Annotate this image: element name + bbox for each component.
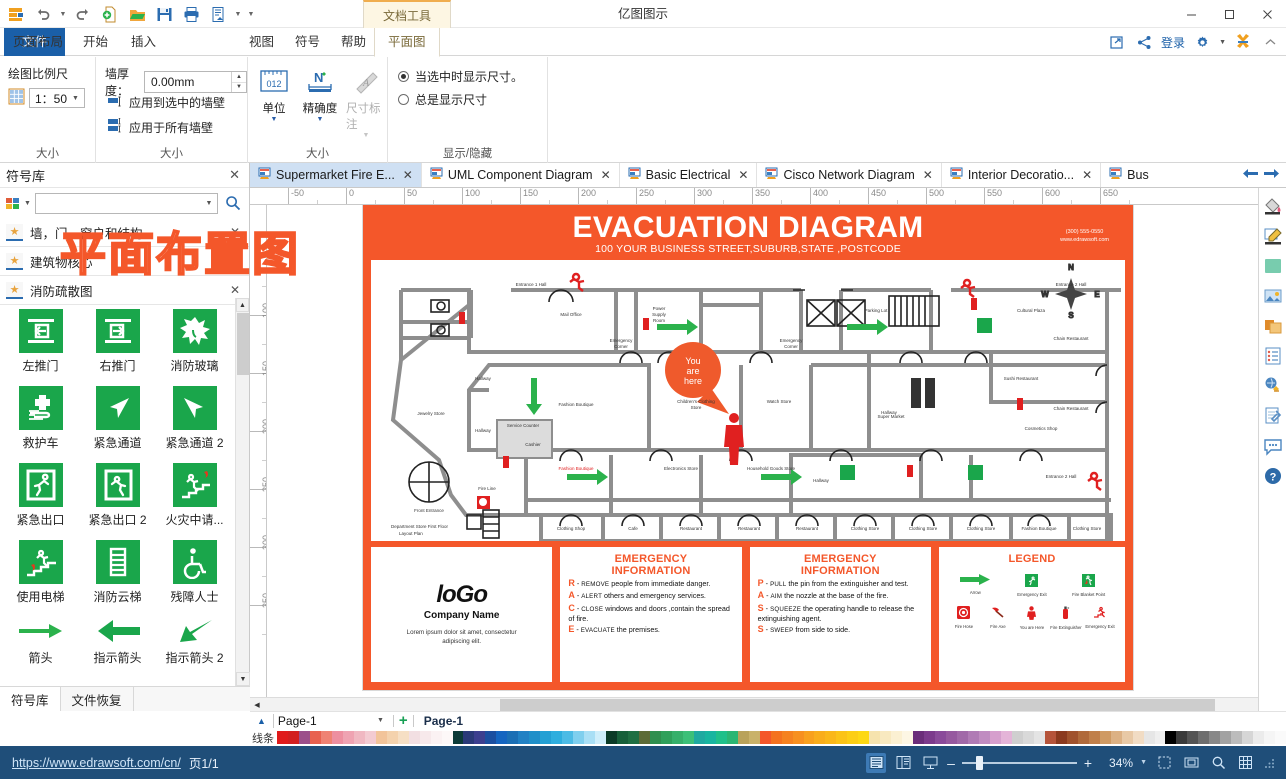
palette-swatch[interactable] xyxy=(496,731,507,744)
line-letter: A xyxy=(758,590,765,600)
company-name: Company Name xyxy=(424,610,500,621)
palette-swatch[interactable] xyxy=(431,731,442,744)
palette-swatch[interactable] xyxy=(1122,731,1133,744)
drawing-canvas[interactable]: EVACUATION DIAGRAM 100 YOUR BUSINESS STR… xyxy=(267,205,1272,697)
palette-swatch[interactable] xyxy=(836,731,847,744)
palette-swatch[interactable] xyxy=(1264,731,1275,744)
stepper-up-icon[interactable]: ▲ xyxy=(232,72,246,83)
dimension-annotation-button[interactable]: A 尺寸标注 ▼ xyxy=(346,67,386,140)
line-letter: S xyxy=(758,624,764,634)
document-tool-context-tab[interactable]: 文档工具 xyxy=(363,0,451,28)
palette-swatch[interactable] xyxy=(858,731,869,744)
palette-swatch[interactable] xyxy=(1045,731,1056,744)
library-category-building-core[interactable]: ★ 建筑物核心 ✕ xyxy=(0,247,249,276)
palette-swatch[interactable] xyxy=(902,731,913,744)
palette-swatch[interactable] xyxy=(1078,731,1089,744)
shape-label: 紧急通道 2 xyxy=(165,434,223,451)
share-box-icon[interactable] xyxy=(1107,32,1127,52)
shape-push-door-right[interactable]: 右推门 xyxy=(79,306,156,377)
fit-page-icon[interactable] xyxy=(1154,753,1174,773)
palette-swatch[interactable] xyxy=(924,731,935,744)
palette-swatch[interactable] xyxy=(485,731,496,744)
tab-view[interactable]: 视图 xyxy=(236,28,287,56)
chevron-down-icon[interactable]: ▼ xyxy=(24,200,31,207)
line-letter: P xyxy=(758,578,764,588)
palette-swatch[interactable] xyxy=(672,731,683,744)
palette-swatch[interactable] xyxy=(1111,731,1122,744)
save-disk-icon[interactable] xyxy=(152,2,176,26)
palette-swatch[interactable] xyxy=(913,731,924,744)
close-icon[interactable]: ✕ xyxy=(227,225,243,239)
chevron-down-icon[interactable]: ▼ xyxy=(377,717,388,724)
hyperlink-icon[interactable] xyxy=(1261,374,1285,398)
tab-symbol-library[interactable]: 符号库 xyxy=(0,687,61,711)
svg-text:Fashion Boutique: Fashion Boutique xyxy=(558,402,594,407)
palette-swatch[interactable] xyxy=(990,731,1001,744)
palette-swatch[interactable] xyxy=(1165,731,1176,744)
page-canvas[interactable]: EVACUATION DIAGRAM 100 YOUR BUSINESS STR… xyxy=(363,205,1133,690)
tab-symbol[interactable]: 符号 xyxy=(282,28,333,56)
horizontal-ruler[interactable]: -50 0 50 100 150 200 250 300 350 400 450… xyxy=(250,188,1272,205)
use-elevator-icon xyxy=(19,540,63,584)
doc-tab-basic-electrical[interactable]: Basic Electrical ✕ xyxy=(620,163,758,187)
shape-arrow-right[interactable]: 箭头 xyxy=(2,614,79,669)
color-palette: 线条 xyxy=(250,729,1286,746)
svg-text:Clothing Store: Clothing Store xyxy=(1073,526,1102,531)
login-button[interactable]: 登录 xyxy=(1161,34,1185,51)
svg-text:Mail Office: Mail Office xyxy=(560,312,582,317)
vertical-ruler[interactable]: 100 150 200 250 300 350 xyxy=(250,205,267,697)
shape-use-elevator[interactable]: 使用电梯 xyxy=(2,537,79,608)
unit-chevron-down-icon[interactable]: ▼ xyxy=(271,116,278,124)
grid-scale-icon[interactable] xyxy=(8,88,25,108)
customize-qat-icon[interactable]: ▼ xyxy=(246,2,256,26)
palette-swatch[interactable] xyxy=(760,731,771,744)
first-aid-icon xyxy=(19,386,63,430)
tab-insert[interactable]: 插入 xyxy=(118,28,169,56)
line-rest: the premises. xyxy=(615,625,660,634)
nav-next-icon[interactable] xyxy=(1263,168,1280,182)
shape-emergency-exit-2[interactable]: 紧急出口 2 xyxy=(79,460,156,531)
legend-item: Arrow xyxy=(958,574,992,597)
document-icon xyxy=(258,167,271,183)
wall-thickness-stepper[interactable]: 0.00mm ▲▼ xyxy=(144,71,247,93)
collapse-ribbon-icon[interactable] xyxy=(1260,32,1280,52)
window-controls xyxy=(1172,0,1286,28)
shape-wheelchair[interactable]: 残障人士 xyxy=(156,537,233,608)
unit-button[interactable]: 012 单位 ▼ xyxy=(254,67,294,140)
line-caps: EVACUATE xyxy=(581,627,615,634)
close-icon[interactable]: ✕ xyxy=(226,167,243,183)
palette-swatch[interactable] xyxy=(1023,731,1034,744)
svg-text:Household Goods Store: Household Goods Store xyxy=(747,466,796,471)
apply-to-selected-wall-button[interactable]: 应用到选中的墙壁 xyxy=(105,93,228,112)
palette-swatch[interactable] xyxy=(1144,731,1155,744)
presentation-view-icon[interactable] xyxy=(920,753,940,773)
doc-tab-bus[interactable]: Bus xyxy=(1101,163,1157,187)
palette-swatch[interactable] xyxy=(639,731,650,744)
edraw-logo-icon[interactable] xyxy=(4,2,28,26)
palette-swatches[interactable] xyxy=(277,731,1286,744)
fill-color-icon[interactable] xyxy=(1261,194,1285,218)
tab-start[interactable]: 开始 xyxy=(70,28,121,56)
palette-swatch[interactable] xyxy=(1056,731,1067,744)
settings-chevron-down-icon[interactable]: ▼ xyxy=(1219,39,1226,46)
apply-selected-wall-icon xyxy=(108,95,123,111)
close-icon[interactable]: ✕ xyxy=(403,168,413,182)
share-icon[interactable] xyxy=(1134,32,1154,52)
svg-text:are: are xyxy=(686,366,699,376)
attachment-icon[interactable] xyxy=(1261,404,1285,428)
panel-line: R - REMOVE people from immediate danger. xyxy=(568,579,733,589)
svg-text:Cafe: Cafe xyxy=(628,526,638,531)
insert-picture-icon[interactable] xyxy=(1261,284,1285,308)
group3-footer: 大小 xyxy=(248,145,387,161)
palette-swatch[interactable] xyxy=(387,731,398,744)
close-icon[interactable]: ✕ xyxy=(601,168,611,182)
palette-swatch[interactable] xyxy=(1176,731,1187,744)
shape-push-door-left[interactable]: 左推门 xyxy=(2,306,79,377)
tab-floor-plan[interactable]: 平面图 xyxy=(374,28,440,57)
palette-swatch[interactable] xyxy=(507,731,518,744)
palette-swatch[interactable] xyxy=(376,731,387,744)
svg-text:Clothing Store: Clothing Store xyxy=(851,526,880,531)
line-rest: from side to side. xyxy=(793,625,850,634)
palette-swatch[interactable] xyxy=(771,731,782,744)
palette-swatch[interactable] xyxy=(847,731,858,744)
shape-fire-stairs[interactable]: 火灾中请... xyxy=(156,460,233,531)
shape-label: 使用电梯 xyxy=(16,588,64,605)
zoom-region-icon[interactable] xyxy=(1208,753,1228,773)
page-bar: ▲ Page-1 ▼ + Page-1 xyxy=(250,711,1286,729)
page-select[interactable]: Page-1 ▼ xyxy=(273,714,388,728)
palette-swatch[interactable] xyxy=(584,731,595,744)
palette-swatch[interactable] xyxy=(277,731,288,744)
break-glass-icon xyxy=(173,309,217,353)
page-count-label: 页1/1 xyxy=(189,753,219,772)
palette-swatch[interactable] xyxy=(782,731,793,744)
new-file-icon[interactable] xyxy=(98,2,122,26)
palette-swatch[interactable] xyxy=(453,731,464,744)
palette-swatch[interactable] xyxy=(727,731,738,744)
ruler-tick: 0 xyxy=(346,188,354,205)
svg-text:here: here xyxy=(684,376,702,386)
doc-tab-supermarket-fire[interactable]: Supermarket Fire E... ✕ xyxy=(250,163,422,187)
line-caps: SQUEEZE xyxy=(770,606,801,613)
shape-label: 右推门 xyxy=(99,357,135,374)
precision-button[interactable]: N 精确度 ▼ xyxy=(300,67,340,140)
panel-legend[interactable]: LEGEND Arrow Emergency Exit xyxy=(939,547,1125,682)
zoom-chevron-down-icon[interactable]: ▼ xyxy=(1140,759,1147,766)
palette-swatch[interactable] xyxy=(310,731,321,744)
svg-text:Hallway: Hallway xyxy=(475,376,492,381)
add-page-button[interactable]: + xyxy=(399,714,408,728)
palette-swatch[interactable] xyxy=(595,731,606,744)
grid-toggle-icon[interactable] xyxy=(1235,753,1255,773)
resize-grip-icon[interactable] xyxy=(1264,757,1276,769)
doc-tab-uml-component[interactable]: UML Component Diagram ✕ xyxy=(422,163,620,187)
palette-swatch[interactable] xyxy=(474,731,485,744)
chevron-up-icon[interactable]: ▲ xyxy=(255,716,268,726)
fit-width-icon[interactable] xyxy=(1181,753,1201,773)
legend-item: Fire Hose xyxy=(947,606,981,630)
dimension-chevron-down-icon[interactable]: ▼ xyxy=(363,132,370,140)
shape-arrow-down-left[interactable]: 指示箭头 2 xyxy=(156,614,233,669)
tab-page-layout[interactable]: 页面布局 xyxy=(0,28,76,56)
palette-swatch[interactable] xyxy=(1089,731,1100,744)
palette-swatch[interactable] xyxy=(825,731,836,744)
palette-swatch[interactable] xyxy=(1231,731,1242,744)
palette-swatch[interactable] xyxy=(332,731,343,744)
ribbon-right-actions: 登录 ▼ xyxy=(1107,28,1280,56)
palette-swatch[interactable] xyxy=(1100,731,1111,744)
palette-swatch[interactable] xyxy=(793,731,804,744)
svg-text:Chain Restaurant: Chain Restaurant xyxy=(1053,406,1089,411)
palette-swatch[interactable] xyxy=(694,731,705,744)
legend-item: Fire Axe xyxy=(981,606,1015,630)
palette-swatch[interactable] xyxy=(1001,731,1012,744)
scroll-left-arrow-icon[interactable]: ◀ xyxy=(250,698,264,712)
zoom-slider[interactable] xyxy=(962,753,1077,773)
tab-file-recovery[interactable]: 文件恢复 xyxy=(61,687,134,711)
svg-text:Store: Store xyxy=(691,405,702,410)
stepper-down-icon[interactable]: ▼ xyxy=(232,83,246,93)
line-letter: E xyxy=(568,624,574,634)
search-icon[interactable] xyxy=(222,192,244,214)
line-caps: REMOVE xyxy=(581,581,609,588)
palette-swatch[interactable] xyxy=(705,731,716,744)
export-dropdown-icon[interactable]: ▼ xyxy=(233,2,243,26)
palette-swatch[interactable] xyxy=(1220,731,1231,744)
palette-swatch[interactable] xyxy=(354,731,365,744)
right-toolbar: ? xyxy=(1258,188,1286,711)
palette-swatch[interactable] xyxy=(409,731,420,744)
line-style-icon[interactable] xyxy=(1261,224,1285,248)
palette-swatch[interactable] xyxy=(288,731,299,744)
palette-swatch[interactable] xyxy=(935,731,946,744)
palette-swatch[interactable] xyxy=(420,731,431,744)
chevron-down-icon[interactable]: ▼ xyxy=(69,95,82,102)
palette-swatch[interactable] xyxy=(617,731,628,744)
horizontal-scroll-thumb[interactable] xyxy=(500,699,1215,711)
legend-item: Emergency Exit xyxy=(1083,606,1117,630)
close-icon[interactable]: ✕ xyxy=(227,254,243,268)
palette-swatch[interactable] xyxy=(442,731,453,744)
palette-swatch[interactable] xyxy=(1253,731,1264,744)
close-icon[interactable]: ✕ xyxy=(738,168,748,182)
redo-icon[interactable] xyxy=(71,2,95,26)
shape-emergency-exit[interactable]: 紧急出口 xyxy=(2,460,79,531)
floor-plan[interactable]: You are here N S xyxy=(371,260,1125,541)
palette-swatch[interactable] xyxy=(529,731,540,744)
library-scrollbar[interactable]: ▲ ▼ xyxy=(235,298,249,686)
ruler-tick: 50 xyxy=(404,188,417,205)
zoom-out-button[interactable]: – xyxy=(947,755,955,771)
arrow-left-icon xyxy=(96,617,140,645)
palette-swatch[interactable] xyxy=(749,731,760,744)
shape-first-aid[interactable]: 救护车 xyxy=(2,383,79,454)
split-view-icon[interactable] xyxy=(893,753,913,773)
palette-swatch[interactable] xyxy=(1242,731,1253,744)
tab-help[interactable]: 帮助 xyxy=(328,28,379,56)
emergency-route-right-icon xyxy=(173,386,217,430)
palette-swatch[interactable] xyxy=(343,731,354,744)
panel-line: A - ALERT others and emergency services. xyxy=(568,591,733,601)
scale-select[interactable]: 1：50 ▼ xyxy=(29,88,85,108)
palette-swatch[interactable] xyxy=(628,731,639,744)
palette-swatch[interactable] xyxy=(1187,731,1198,744)
star-icon: ★ xyxy=(6,282,23,299)
palette-swatch[interactable] xyxy=(968,731,979,744)
shape-emergency-route-right[interactable]: 紧急通道 2 xyxy=(156,383,233,454)
comment-icon[interactable] xyxy=(1261,434,1285,458)
shape-fire-ladder[interactable]: 消防云梯 xyxy=(79,537,156,608)
palette-swatch[interactable] xyxy=(1012,731,1023,744)
palette-swatch[interactable] xyxy=(606,731,617,744)
palette-swatch[interactable] xyxy=(804,731,815,744)
palette-swatch[interactable] xyxy=(321,731,332,744)
library-search-box[interactable]: ▼ xyxy=(35,193,218,214)
svg-text:Hallway: Hallway xyxy=(475,428,492,433)
palette-swatch[interactable] xyxy=(716,731,727,744)
search-input[interactable] xyxy=(41,195,203,211)
properties-list-icon[interactable] xyxy=(1261,344,1285,368)
panel-title-line2: INFORMATION xyxy=(801,565,880,577)
panel-emergency-pass[interactable]: EMERGENCY INFORMATION P - PULL the pin f… xyxy=(750,547,931,682)
shape-label: 消防玻璃 xyxy=(170,357,218,374)
shape-label: 指示箭头 2 xyxy=(165,649,223,666)
palette-swatch[interactable] xyxy=(573,731,584,744)
nav-prev-icon[interactable] xyxy=(1242,168,1259,182)
palette-swatch[interactable] xyxy=(891,731,902,744)
legend-label: You are Here xyxy=(1020,625,1045,630)
palette-swatch[interactable] xyxy=(1209,731,1220,744)
palette-swatch[interactable] xyxy=(957,731,968,744)
palette-swatch[interactable] xyxy=(946,731,957,744)
palette-swatch[interactable] xyxy=(814,731,825,744)
library-icon[interactable]: ▼ xyxy=(5,195,31,212)
normal-view-icon[interactable] xyxy=(866,753,886,773)
precision-chevron-down-icon[interactable]: ▼ xyxy=(317,116,324,124)
shape-label: 左推门 xyxy=(22,357,58,374)
scroll-down-arrow-icon[interactable]: ▼ xyxy=(236,672,250,686)
scroll-thumb[interactable] xyxy=(237,313,249,375)
palette-swatch[interactable] xyxy=(683,731,694,744)
panel-emergency-race[interactable]: EMERGENCY INFORMATION R - REMOVE people … xyxy=(560,547,741,682)
legend-label: Fire Blanket Point xyxy=(1072,592,1105,597)
scale-value: 1：50 xyxy=(35,90,69,107)
close-icon[interactable]: ✕ xyxy=(1082,168,1092,182)
panel-company-logo[interactable]: loGo Company Name Lorem ipsum dolor sit … xyxy=(371,547,552,682)
palette-swatch[interactable] xyxy=(979,731,990,744)
help-icon[interactable]: ? xyxy=(1261,464,1285,488)
undo-icon[interactable] xyxy=(31,2,55,26)
svg-text:Cosmetics Shop: Cosmetics Shop xyxy=(1025,426,1058,431)
palette-swatch[interactable] xyxy=(1275,731,1286,744)
evacuation-diagram[interactable]: EVACUATION DIAGRAM 100 YOUR BUSINESS STR… xyxy=(363,205,1133,690)
edraw-x-icon[interactable] xyxy=(1233,32,1253,52)
shape-label: 残障人士 xyxy=(170,588,218,605)
library-category-walls[interactable]: ★ 墙，门，窗户和结构 ✕ xyxy=(0,218,249,247)
ruler-tick: 350 xyxy=(752,188,770,205)
canvas-horizontal-scrollbar[interactable]: ◀ ▶ xyxy=(250,697,1272,711)
panel-line: A - AIM the nozzle at the base of the fi… xyxy=(758,591,923,601)
open-folder-icon[interactable] xyxy=(125,2,149,26)
undo-dropdown-icon[interactable]: ▼ xyxy=(58,2,68,26)
chevron-down-icon[interactable]: ▼ xyxy=(203,200,215,207)
palette-swatch[interactable] xyxy=(518,731,529,744)
doc-tab-label: Basic Electrical xyxy=(646,168,731,182)
palette-swatch[interactable] xyxy=(551,731,562,744)
doc-tab-nav xyxy=(1236,163,1286,187)
close-icon[interactable]: ✕ xyxy=(923,168,933,182)
star-icon: ★ xyxy=(6,224,23,241)
palette-swatch[interactable] xyxy=(880,731,891,744)
palette-swatch[interactable] xyxy=(738,731,749,744)
palette-swatch[interactable] xyxy=(1034,731,1045,744)
palette-swatch[interactable] xyxy=(869,731,880,744)
palette-swatch[interactable] xyxy=(1067,731,1078,744)
layers-icon[interactable] xyxy=(1261,314,1285,338)
maximize-button[interactable] xyxy=(1210,0,1248,28)
document-icon xyxy=(628,167,641,183)
palette-swatch[interactable] xyxy=(661,731,672,744)
scroll-up-arrow-icon[interactable]: ▲ xyxy=(236,298,249,312)
always-show-dimension-radio[interactable]: 总是显示尺寸 xyxy=(398,91,487,108)
doc-tab-cisco-network[interactable]: Cisco Network Diagram ✕ xyxy=(757,163,941,187)
edrawsoft-link[interactable]: https://www.edrawsoft.com/cn/ xyxy=(12,756,181,770)
apply-all-walls-icon xyxy=(108,118,123,136)
ruler-tick: 450 xyxy=(868,188,886,205)
palette-swatch[interactable] xyxy=(650,731,661,744)
gear-icon[interactable] xyxy=(1192,32,1212,52)
palette-swatch[interactable] xyxy=(365,731,376,744)
fire-blanket-icon xyxy=(1082,574,1095,590)
palette-swatch[interactable] xyxy=(463,731,474,744)
page-tab-page-1[interactable]: Page-1 xyxy=(419,714,468,728)
show-dimension-when-selected-radio[interactable]: 当选中时显示尺寸。 xyxy=(398,68,523,85)
palette-swatch[interactable] xyxy=(1198,731,1209,744)
doc-tab-label: Bus xyxy=(1127,168,1149,182)
close-button[interactable] xyxy=(1248,0,1286,28)
svg-text:012: 012 xyxy=(266,79,281,89)
apply-to-all-walls-button[interactable]: 应用于所有墙壁 xyxy=(105,117,216,137)
palette-swatch[interactable] xyxy=(1155,731,1166,744)
export-icon[interactable] xyxy=(206,2,230,26)
legend-label: Emergency Exit xyxy=(1085,624,1114,629)
zoom-in-button[interactable]: + xyxy=(1084,755,1092,771)
palette-swatch[interactable] xyxy=(1133,731,1144,744)
palette-swatch[interactable] xyxy=(299,731,310,744)
palette-swatch[interactable] xyxy=(562,731,573,744)
document-tab-bar: Supermarket Fire E... ✕ UML Component Di… xyxy=(250,163,1286,188)
palette-swatch[interactable] xyxy=(540,731,551,744)
doc-tab-interior-decoration[interactable]: Interior Decoratio... ✕ xyxy=(942,163,1101,187)
shape-break-glass[interactable]: 消防玻璃 xyxy=(156,306,233,377)
shape-arrow-left[interactable]: 指示箭头 xyxy=(79,614,156,669)
printer-icon[interactable] xyxy=(179,2,203,26)
emergency-exit-icon xyxy=(19,463,63,507)
shape-emergency-route-left[interactable]: 紧急通道 xyxy=(79,383,156,454)
emergency-exit-icon xyxy=(1025,574,1038,590)
close-icon[interactable]: ✕ xyxy=(227,283,243,297)
emergency-runner-icon xyxy=(1093,606,1107,622)
minimize-button[interactable] xyxy=(1172,0,1210,28)
theme-color-icon[interactable] xyxy=(1261,254,1285,278)
zoom-slider-knob[interactable] xyxy=(976,756,983,770)
palette-swatch[interactable] xyxy=(398,731,409,744)
legend-item: Emergency Exit xyxy=(1015,574,1049,597)
